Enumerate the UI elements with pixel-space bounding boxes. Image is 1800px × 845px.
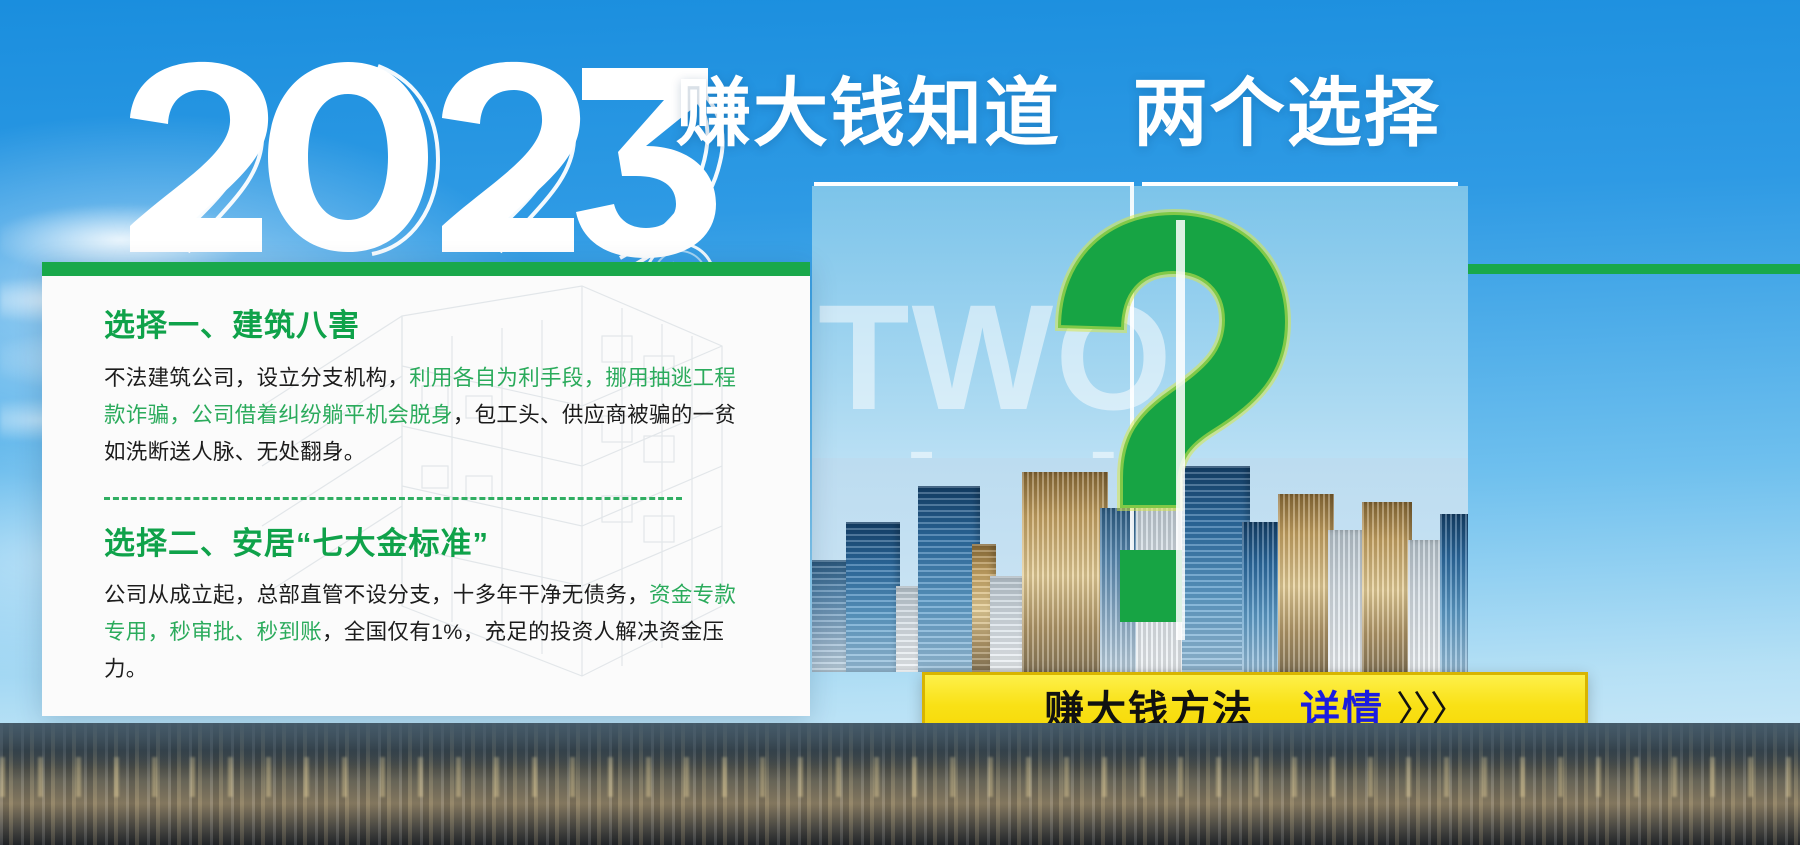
section-1-heading: 选择一、建筑八害 (104, 308, 754, 344)
card-content: 选择一、建筑八害 不法建筑公司，设立分支机构，利用各自为利手段，挪用抽逃工程款诈… (104, 308, 754, 688)
building (1182, 466, 1250, 672)
city-skyline-photo (812, 458, 1468, 672)
section-1-text-a: 不法建筑公司，设立分支机构， (104, 366, 409, 390)
section-2-body: 公司从成立起，总部直管不设分支，十多年干净无债务，资金专款专用，秒审批、秒到账，… (104, 577, 754, 688)
building (918, 486, 980, 672)
year-2023-icon: .solid{fill:#ffffff;} .stroke{fill:none;… (112, 56, 732, 276)
year-graphic: .solid{fill:#ffffff;} .stroke{fill:none;… (112, 56, 732, 276)
page-title: 赚大钱知道 两个选择 (676, 76, 1441, 151)
card-top-accent (42, 262, 810, 276)
building (1362, 502, 1412, 672)
strip-light-band (0, 757, 1800, 797)
headline-part-2: 两个选择 (1133, 71, 1441, 155)
bottom-city-strip (0, 723, 1800, 845)
building (1440, 514, 1468, 672)
building (1136, 482, 1188, 672)
section-2-text-a: 公司从成立起，总部直管不设分支，十多年干净无债务， (104, 583, 649, 607)
section-1-body: 不法建筑公司，设立分支机构，利用各自为利手段，挪用抽逃工程款诈骗，公司借着纠纷躺… (104, 360, 754, 471)
right-image-panel: TWO choices (812, 186, 1468, 672)
section-divider (104, 497, 682, 500)
panel-vertical-divider (1130, 186, 1134, 580)
section-2-heading: 选择二、安居“七大金标准” (104, 526, 754, 562)
banner-stage: .solid{fill:#ffffff;} .stroke{fill:none;… (0, 0, 1800, 845)
green-accent-bar (1452, 264, 1800, 274)
watermark-two: TWO (818, 282, 1174, 432)
headline-part-1: 赚大钱知道 (676, 71, 1061, 155)
building (846, 522, 900, 672)
building (1278, 494, 1334, 672)
building (1022, 472, 1108, 672)
content-card: 选择一、建筑八害 不法建筑公司，设立分支机构，利用各自为利手段，挪用抽逃工程款诈… (42, 262, 810, 716)
